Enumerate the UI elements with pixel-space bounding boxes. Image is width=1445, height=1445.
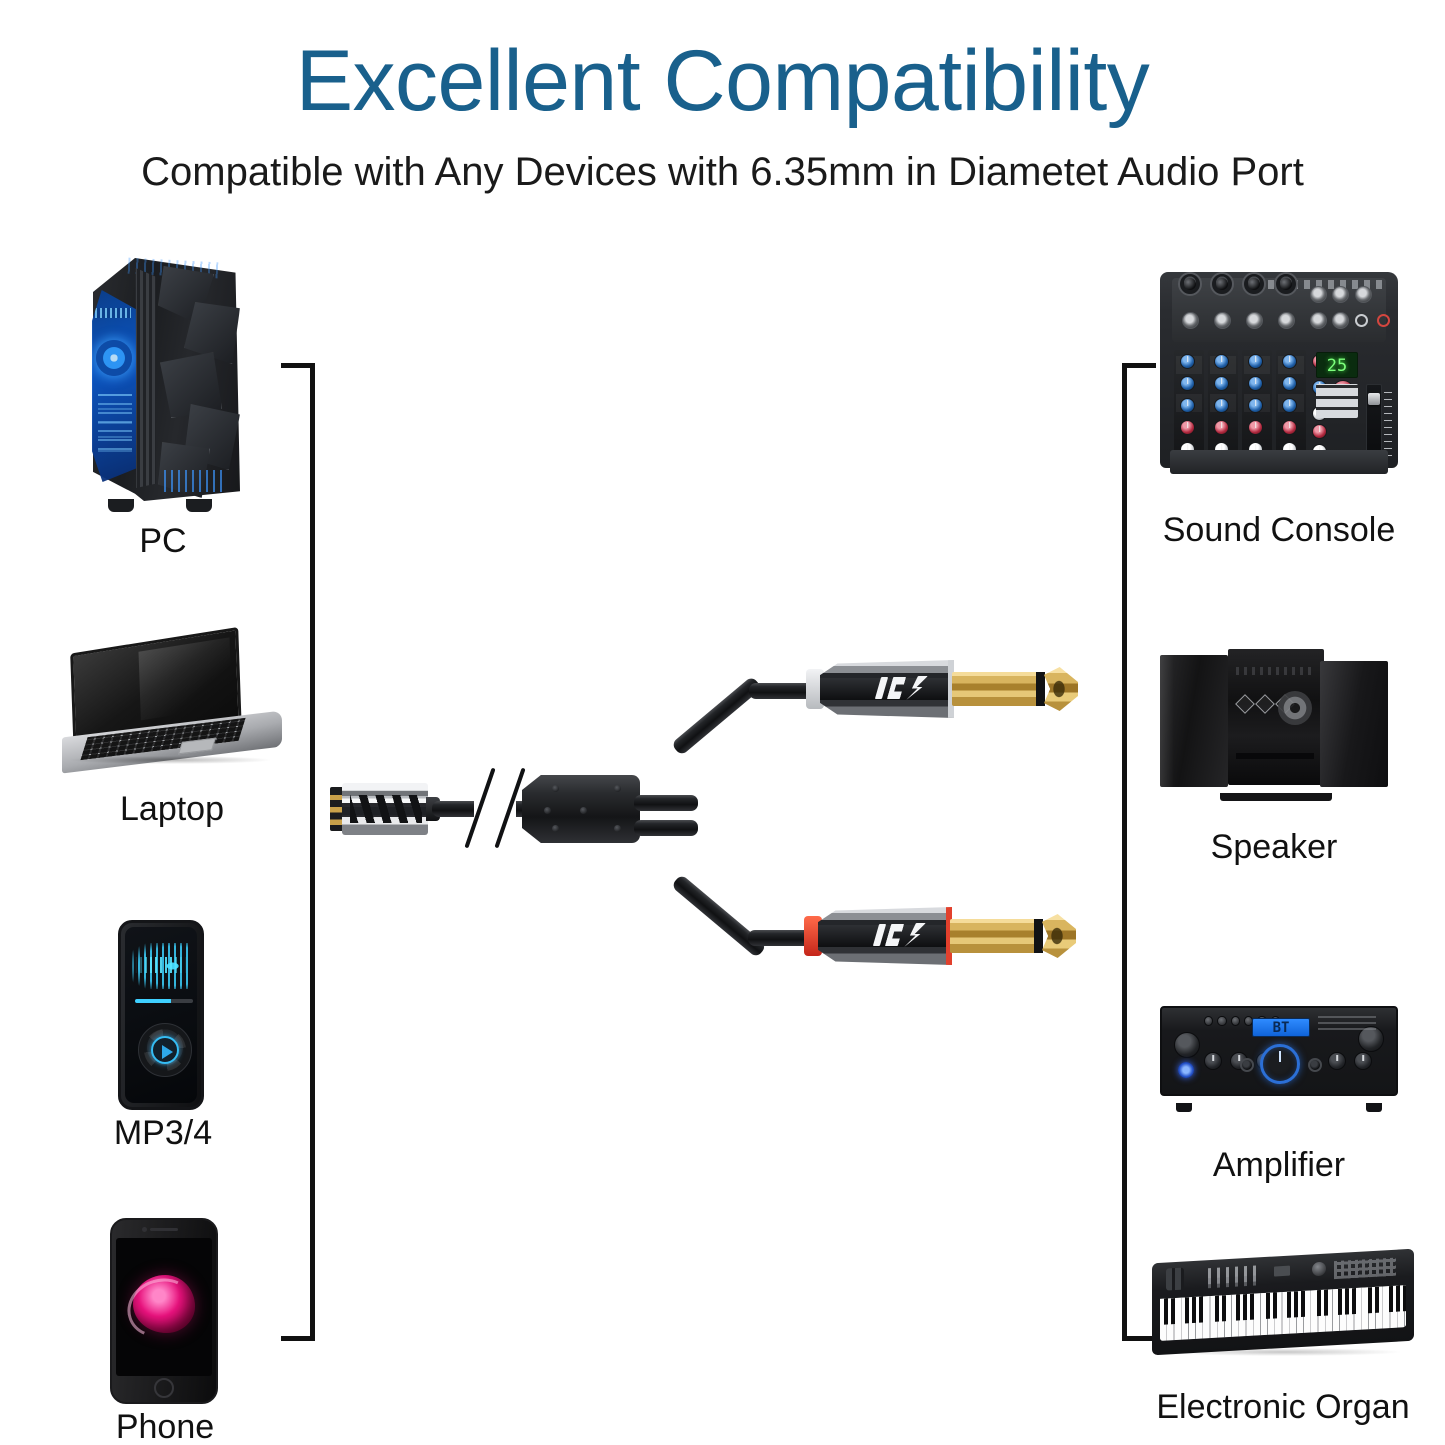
device-electronic-organ: Electronic Organ — [1152, 1248, 1414, 1438]
y-splitter-body — [522, 775, 640, 843]
smartphone-icon — [110, 1218, 218, 1404]
device-speaker: Speaker — [1158, 645, 1390, 875]
device-label-pc: PC — [68, 524, 258, 558]
device-label-sound-console: Sound Console — [1160, 513, 1398, 547]
cable-segment-main — [432, 801, 562, 817]
hifi-speaker-icon — [1158, 645, 1390, 805]
device-sound-console: 25 Sound Console — [1160, 258, 1398, 548]
destination-devices-bracket — [1122, 363, 1161, 1341]
gold-plug-tip — [1044, 667, 1078, 711]
cable-branch-upper — [671, 676, 762, 756]
device-label-laptop: Laptop — [62, 792, 282, 826]
female-jack-connector — [330, 779, 438, 839]
keyboard-piano-icon — [1152, 1248, 1414, 1368]
bracket-tab-top — [1122, 363, 1156, 368]
bracket-tab-top — [281, 363, 315, 368]
channel-band-white — [806, 669, 824, 709]
bracket-tab-bottom — [1122, 1336, 1156, 1341]
connector-barrel — [818, 907, 952, 965]
laptop-icon — [62, 640, 282, 770]
cable-branch-upper — [634, 795, 698, 811]
device-label-amplifier: Amplifier — [1160, 1148, 1398, 1182]
channel-band-red — [804, 916, 822, 956]
bracket-stem — [1122, 363, 1127, 1341]
amplifier-icon: BT — [1160, 1000, 1398, 1112]
bracket-tab-bottom — [281, 1336, 315, 1341]
device-label-speaker: Speaker — [1158, 830, 1390, 864]
device-label-electronic-organ: Electronic Organ — [1152, 1390, 1414, 1424]
volume-knob — [1260, 1044, 1300, 1084]
gold-plug-tip — [1042, 914, 1076, 958]
cable-branch-lower — [748, 930, 816, 946]
mixer-display: 25 — [1316, 352, 1358, 378]
device-laptop: Laptop — [62, 640, 282, 840]
device-mp3: MP3/4 — [118, 920, 208, 1150]
page-title: Excellent Compatibility — [0, 38, 1445, 124]
gold-contacts — [330, 787, 344, 831]
male-plug-left-channel — [800, 653, 1080, 725]
device-phone: Phone — [110, 1218, 220, 1445]
amplifier-display: BT — [1252, 1018, 1310, 1037]
device-amplifier: BT Amplifier — [1160, 1000, 1398, 1180]
page-subtitle: Compatible with Any Devices with 6.35mm … — [0, 152, 1445, 192]
bracket-stem — [310, 363, 315, 1341]
cable-branch-lower — [634, 820, 698, 836]
gold-plug-shaft — [950, 919, 1042, 953]
desktop-tower-icon — [68, 252, 258, 512]
compatibility-infographic: Excellent Compatibility Compatible with … — [0, 0, 1445, 1445]
connector-barrel — [342, 783, 428, 835]
male-plug-right-channel — [798, 900, 1078, 972]
gold-plug-shaft — [952, 672, 1044, 706]
source-devices-bracket — [276, 363, 315, 1341]
device-label-phone: Phone — [65, 1410, 265, 1444]
cable-break-marker — [494, 768, 525, 849]
cable-break-marker — [464, 768, 495, 849]
cable-branch-lower — [671, 874, 767, 958]
device-pc: PC — [68, 252, 258, 572]
connector-barrel — [820, 660, 954, 718]
audio-mixer-icon: 25 — [1160, 258, 1398, 480]
device-label-mp3: MP3/4 — [63, 1116, 263, 1150]
mp3-player-icon — [118, 920, 204, 1110]
cable-branch-upper — [749, 683, 817, 699]
